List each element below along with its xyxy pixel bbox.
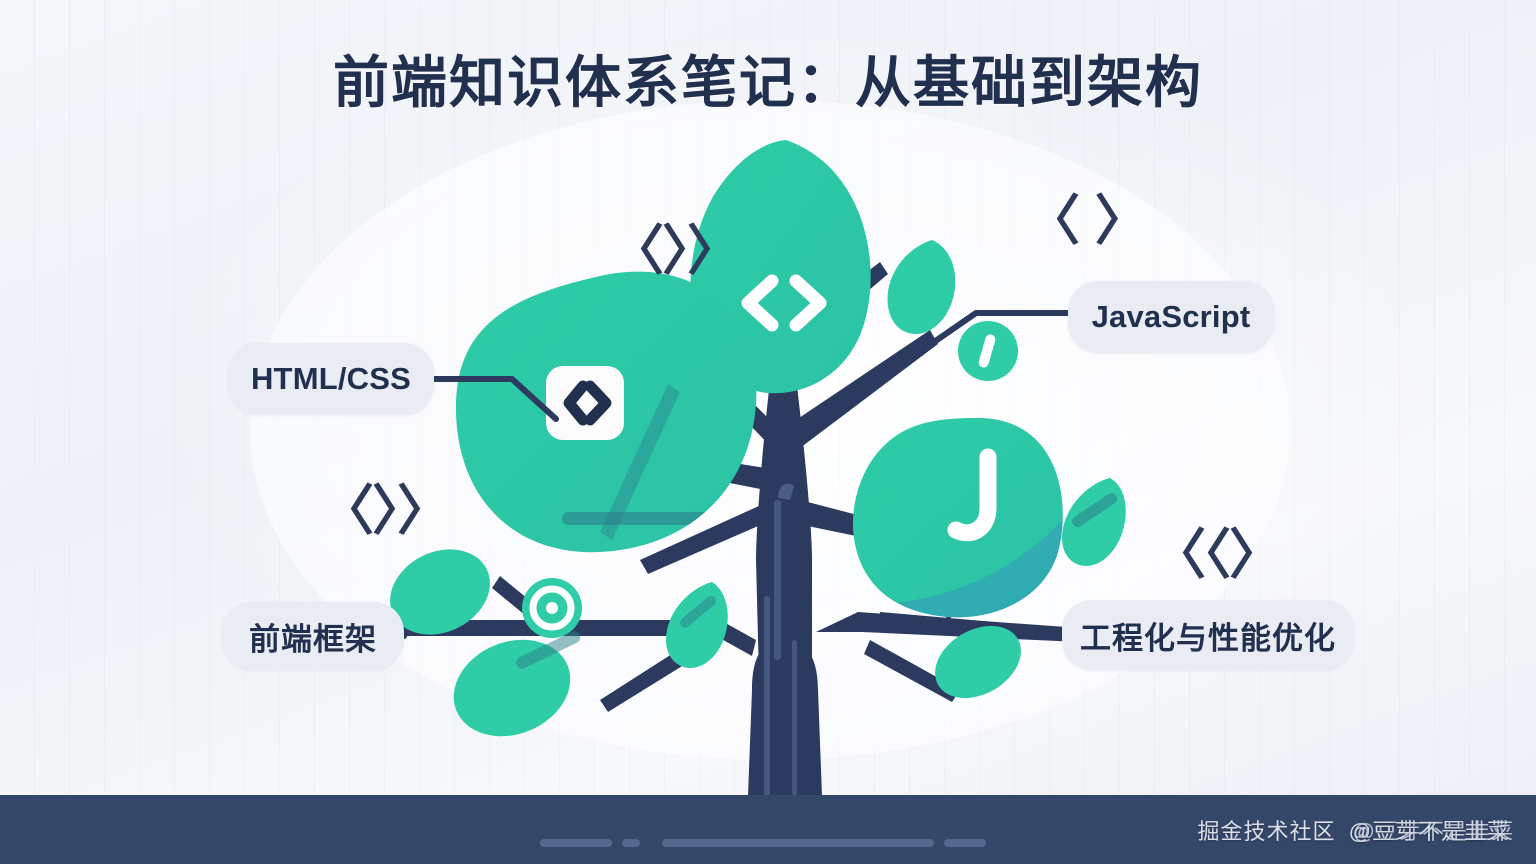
- label-javascript-text: JavaScript: [1092, 299, 1251, 335]
- code-angle-icon-mid-right: 〈〈〉: [1152, 510, 1281, 589]
- page-title: 前端知识体系笔记：从基础到架构: [0, 38, 1536, 119]
- label-engineering-performance[interactable]: 工程化与性能优化: [1062, 600, 1354, 670]
- code-square-badge: [546, 366, 624, 440]
- target-icon-badge: [522, 578, 582, 638]
- slide-canvas: 前端知识体系笔记：从基础到架构: [0, 0, 1536, 864]
- code-angle-icon-mid-left: 〈〉〉: [320, 466, 449, 545]
- label-javascript[interactable]: JavaScript: [1068, 281, 1274, 353]
- watermark-prefix: 掘金技术社区: [1198, 819, 1336, 844]
- knowledge-tree-illustration: [0, 0, 1536, 864]
- label-html-css-text: HTML/CSS: [251, 361, 411, 397]
- watermark: 掘金技术社区 @豆芽不是韭菜 @豆芽不是韭菜: [1198, 814, 1510, 846]
- label-frontend-framework[interactable]: 前端框架: [222, 602, 404, 670]
- code-angle-icon-top-left: 〈〉〉: [610, 206, 739, 285]
- watermark-handle-overlay: @豆芽不是韭菜: [1353, 814, 1514, 846]
- slash-circle-badge: [958, 321, 1018, 381]
- watermark-handle-group: @豆芽不是韭菜 @豆芽不是韭菜: [1349, 814, 1510, 846]
- code-angle-icon-top-right: 〈 〉: [1026, 176, 1147, 255]
- label-html-css[interactable]: HTML/CSS: [228, 343, 434, 415]
- label-engineering-performance-text: 工程化与性能优化: [1080, 613, 1336, 658]
- label-frontend-framework-text: 前端框架: [249, 614, 377, 659]
